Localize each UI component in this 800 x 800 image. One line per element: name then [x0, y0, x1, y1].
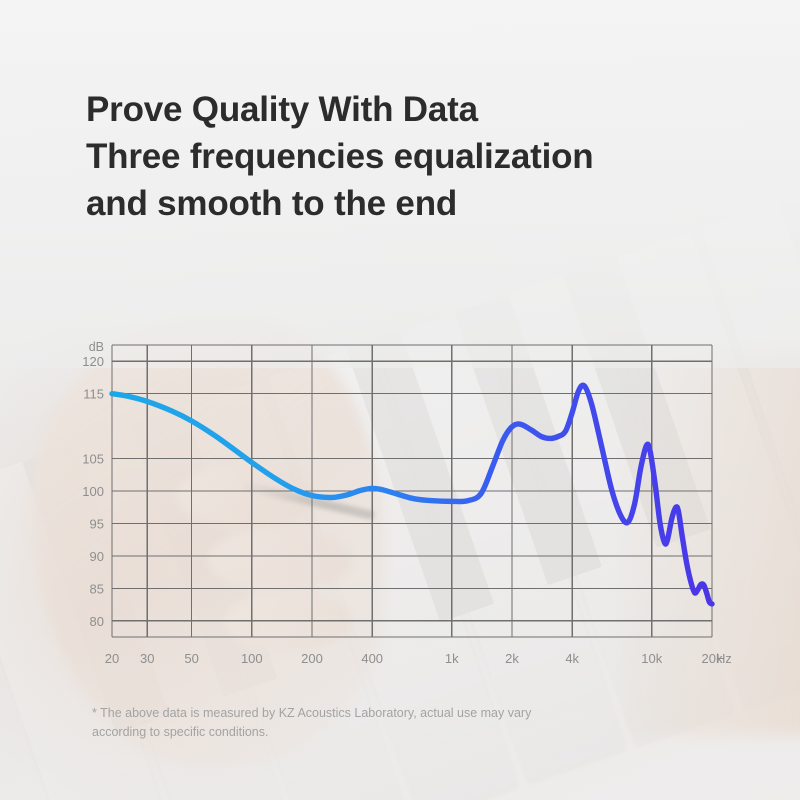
chart-svg: 12011510510095908580 2030501002004001k2k…: [0, 0, 800, 800]
y-axis-tick-label: 95: [90, 516, 104, 531]
y-axis-tick-label: 100: [82, 484, 104, 499]
x-axis-tick-label: 20: [105, 651, 119, 666]
x-axis-tick-label: 400: [361, 651, 383, 666]
x-axis-unit-label: Hz: [716, 652, 731, 666]
frequency-response-curve: [112, 385, 712, 604]
x-axis-tick-label: 1k: [445, 651, 459, 666]
x-axis-tick-label: 100: [241, 651, 263, 666]
x-axis-tick-label: 2k: [505, 651, 519, 666]
x-axis-tick-label: 200: [301, 651, 323, 666]
y-axis-tick-label: 90: [90, 549, 104, 564]
y-axis-tick-label: 115: [83, 387, 104, 402]
x-axis-tick-label: 10k: [641, 651, 662, 666]
chart-gridlines: [112, 345, 712, 637]
x-axis-tick-labels: 2030501002004001k2k4k10k20k: [105, 651, 723, 666]
y-axis-tick-label: 120: [82, 354, 104, 369]
y-axis-tick-labels: 12011510510095908580: [82, 354, 104, 629]
y-axis-tick-label: 85: [90, 581, 104, 596]
frequency-response-chart: 12011510510095908580 2030501002004001k2k…: [0, 0, 800, 800]
disclaimer-note: * The above data is measured by KZ Acous…: [92, 704, 612, 742]
x-axis-tick-label: 30: [140, 651, 154, 666]
y-axis-unit-label: dB: [89, 340, 104, 354]
x-axis-tick-label: 50: [184, 651, 198, 666]
disclaimer-line-1: * The above data is measured by KZ Acous…: [92, 704, 612, 723]
disclaimer-line-2: according to specific conditions.: [92, 723, 612, 742]
x-axis-tick-label: 4k: [565, 651, 579, 666]
product-infographic-page: Prove Quality With Data Three frequencie…: [0, 0, 800, 800]
y-axis-tick-label: 105: [82, 452, 104, 467]
y-axis-tick-label: 80: [90, 614, 104, 629]
